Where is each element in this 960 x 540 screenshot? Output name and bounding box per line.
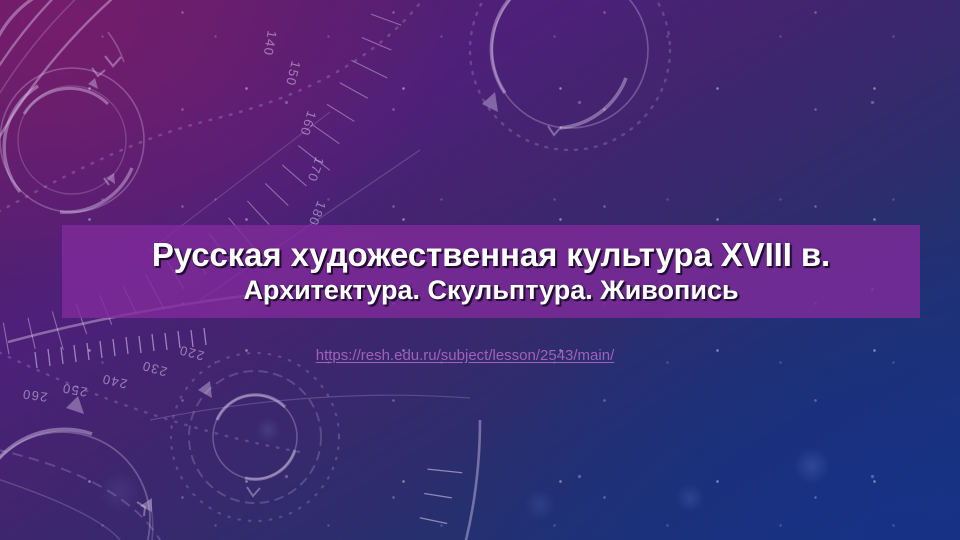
chevron-right [548, 126, 561, 135]
degree-label-240: 240 [100, 371, 129, 391]
title-banner: Русская художественная культура XVIII в.… [62, 225, 920, 318]
ring-top-left [0, 0, 144, 212]
lesson-link[interactable]: https://resh.edu.ru/subject/lesson/2543/… [316, 347, 615, 364]
arrow-marker-lower-left [66, 396, 84, 414]
protractor-upper [0, 0, 500, 430]
ring-bottom-left [0, 429, 153, 540]
chevron-top-left [92, 68, 109, 185]
link-row: https://resh.edu.ru/subject/lesson/2543/… [0, 347, 930, 365]
arrow-marker-right [482, 92, 498, 112]
protractor-lower [0, 420, 480, 540]
chevron-center-bottom [247, 487, 260, 496]
chevron-center-left [105, 56, 121, 66]
ring-center-bottom [171, 353, 339, 521]
degree-labels-upper: 140 150 160 170 180 [261, 29, 330, 228]
degree-label-140: 140 [261, 29, 280, 57]
page-title: Русская художественная культура XVIII в. [152, 238, 830, 273]
degree-label-250: 250 [60, 381, 88, 400]
arrow-marker-center-bottom [198, 381, 212, 398]
chevron-marker-group-tl [88, 78, 115, 184]
page-subtitle: Архитектура. Скульптура. Живопись [243, 276, 738, 305]
chevron-bottom-left [140, 498, 152, 512]
degree-label-260: 260 [21, 386, 49, 404]
degree-label-160: 160 [297, 109, 319, 138]
presentation-slide: 140 150 160 170 180 [0, 0, 960, 540]
ring-top-right [470, 0, 670, 150]
degree-label-150: 150 [283, 59, 304, 88]
degree-label-170: 170 [304, 155, 327, 184]
